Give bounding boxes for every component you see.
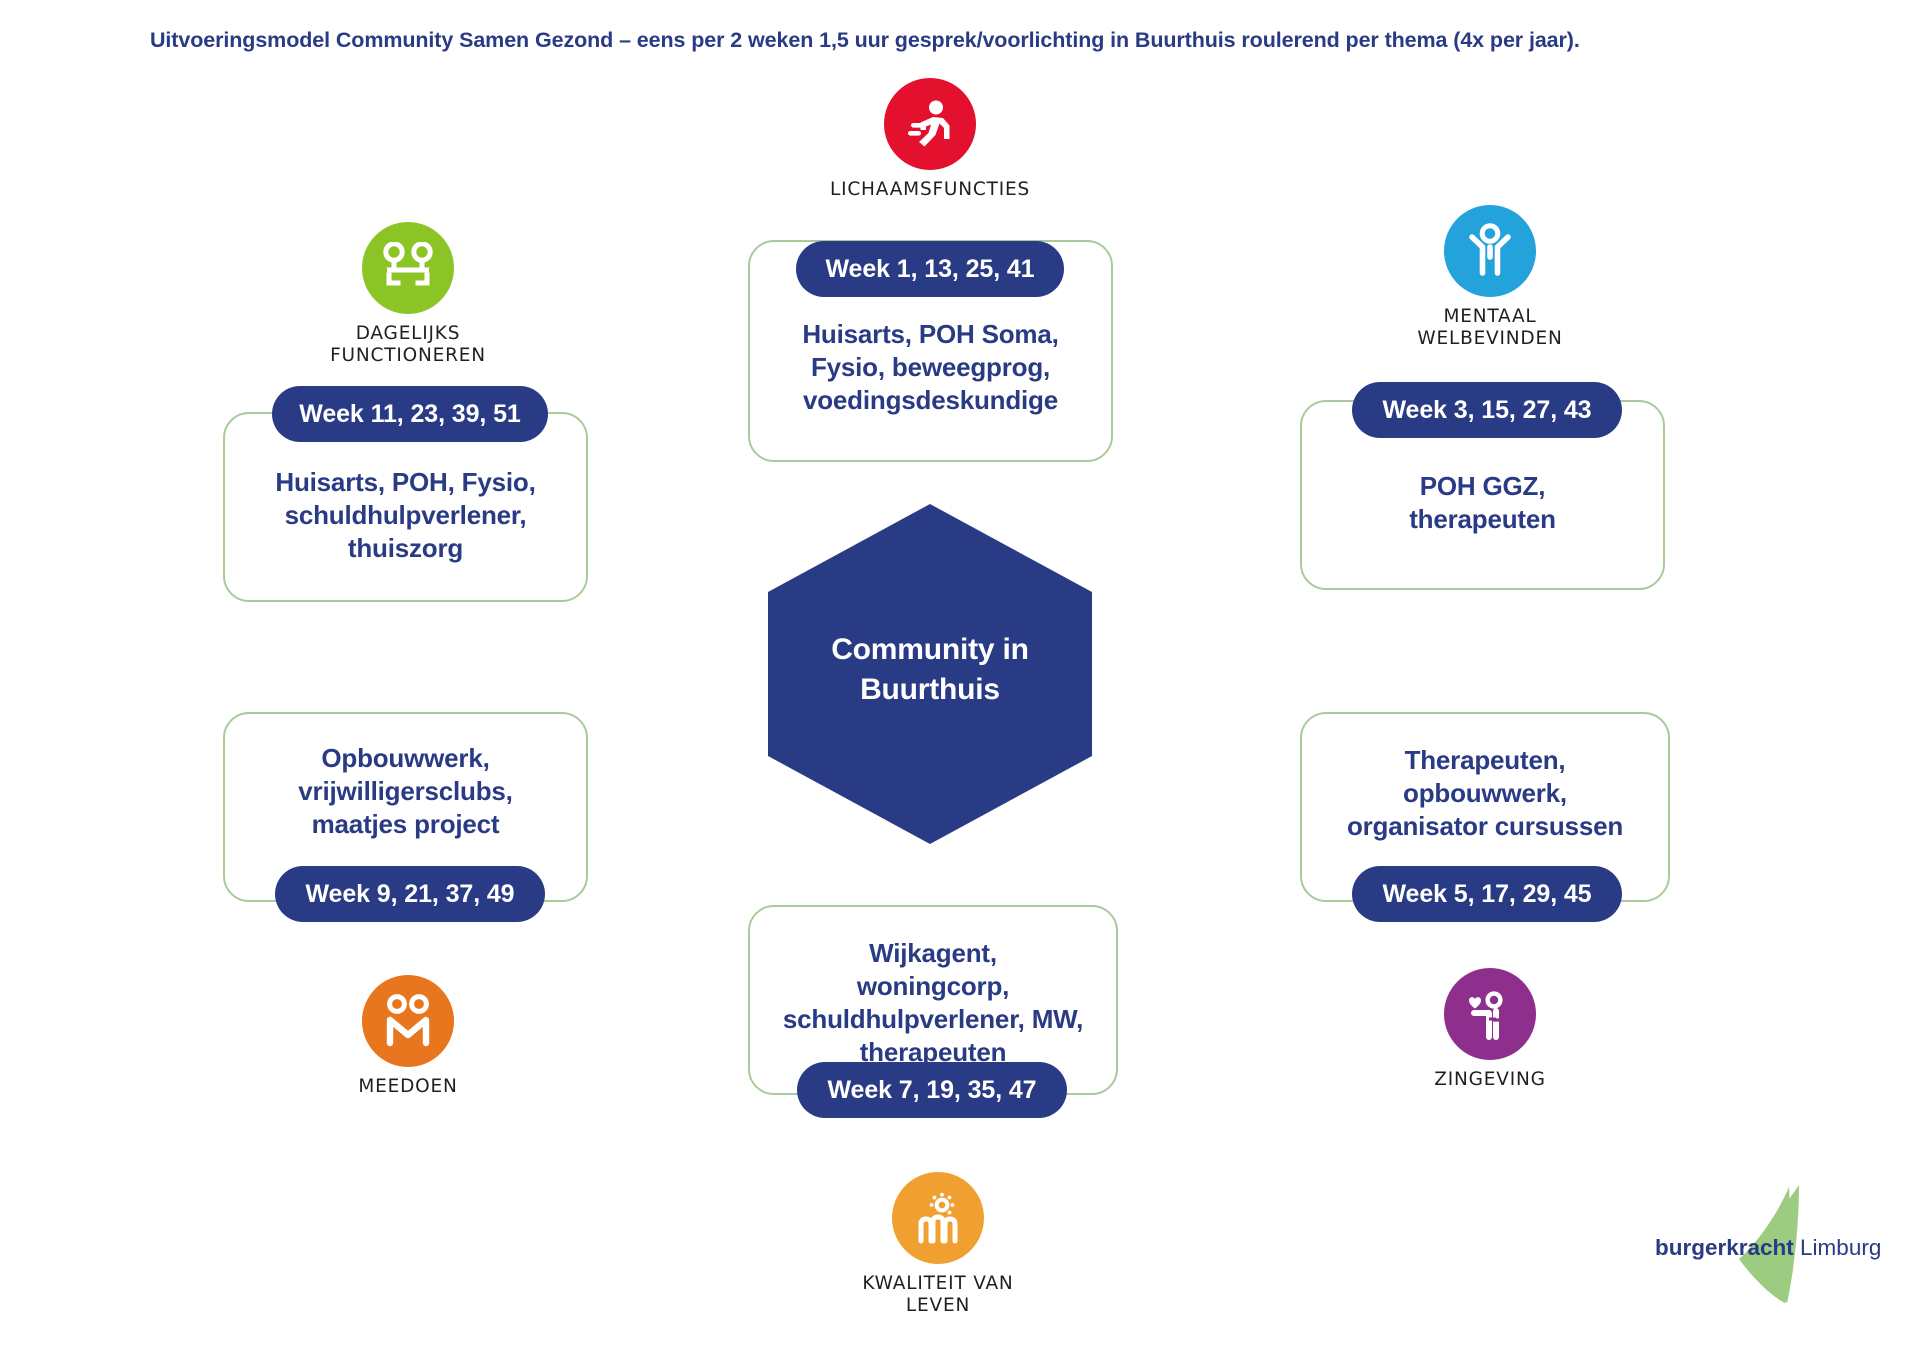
- theme-caption: DAGELIJKS FUNCTIONEREN: [278, 323, 538, 367]
- card-body: Huisarts, POH Soma, Fysio, beweegprog, v…: [750, 318, 1111, 417]
- card-body-line2: woningcorp,: [762, 970, 1104, 1003]
- theme-caption: KWALITEIT VAN LEVEN: [808, 1273, 1068, 1317]
- week-pill-mentaal-welbevinden[interactable]: Week 3, 15, 27, 43: [1352, 382, 1622, 438]
- card-body-line1: Huisarts, POH Soma,: [762, 318, 1099, 351]
- theme-caption: MEEDOEN: [278, 1076, 538, 1098]
- theme-caption-line1: KWALITEIT VAN: [808, 1273, 1068, 1295]
- theme-caption: ZINGEVING: [1360, 1069, 1620, 1091]
- card-body-line2: Fysio, beweegprog,: [762, 351, 1099, 384]
- theme-meedoen: MEEDOEN: [278, 975, 538, 1098]
- card-body-line1: Wijkagent,: [762, 937, 1104, 970]
- card-body-line1: Huisarts, POH, Fysio,: [237, 466, 574, 499]
- theme-zingeving: ZINGEVING: [1360, 968, 1620, 1091]
- week-pill-lichaamsfuncties[interactable]: Week 1, 13, 25, 41: [796, 241, 1064, 297]
- person-with-heart-icon: [1444, 968, 1536, 1060]
- card-body-line1: Opbouwwerk,: [237, 742, 574, 775]
- theme-caption-line1: DAGELIJKS: [278, 323, 538, 345]
- theme-caption-line2: WELBEVINDEN: [1360, 328, 1620, 350]
- theme-caption-line2: FUNCTIONEREN: [278, 345, 538, 367]
- logo-name-regular: Limburg: [1794, 1235, 1882, 1260]
- card-body: Wijkagent, woningcorp, schuldhulpverlene…: [750, 937, 1116, 1069]
- theme-caption-line2: LEVEN: [808, 1295, 1068, 1317]
- theme-caption: LICHAAMSFUNCTIES: [800, 179, 1060, 201]
- card-body-line2: opbouwwerk,: [1314, 777, 1656, 810]
- logo-wordmark: burgerkracht Limburg: [1655, 1235, 1881, 1261]
- week-pill-meedoen[interactable]: Week 9, 21, 37, 49: [275, 866, 545, 922]
- page-title: Uitvoeringsmodel Community Samen Gezond …: [150, 28, 1850, 53]
- card-body-line3: voedingsdeskundige: [762, 384, 1099, 417]
- card-body-line2: schuldhulpverlener,: [237, 499, 574, 532]
- theme-caption-line1: MEEDOEN: [278, 1076, 538, 1098]
- week-pill-kwaliteit-van-leven[interactable]: Week 7, 19, 35, 47: [797, 1062, 1067, 1118]
- theme-dagelijks-functioneren: DAGELIJKS FUNCTIONEREN: [278, 222, 538, 367]
- card-body: Huisarts, POH, Fysio, schuldhulpverlener…: [225, 466, 586, 565]
- card-body-line2: vrijwilligersclubs,: [237, 775, 574, 808]
- card-body-line3: schuldhulpverlener, MW,: [762, 1003, 1104, 1036]
- arms-raised-person-icon: [1444, 205, 1536, 297]
- theme-caption-line1: LICHAAMSFUNCTIES: [830, 179, 1030, 200]
- two-people-m-icon: [362, 975, 454, 1067]
- card-body-line1: Therapeuten,: [1314, 744, 1656, 777]
- card-body: Opbouwwerk, vrijwilligersclubs, maatjes …: [225, 742, 586, 841]
- theme-lichaamsfuncties: LICHAAMSFUNCTIES: [800, 78, 1060, 201]
- card-body-line3: maatjes project: [237, 808, 574, 841]
- logo-name-bold: burgerkracht: [1655, 1235, 1794, 1260]
- card-body-line3: organisator cursussen: [1314, 810, 1656, 843]
- theme-caption-line1: MENTAAL: [1360, 306, 1620, 328]
- card-body-line2: therapeuten: [1314, 503, 1651, 536]
- running-person-icon: [884, 78, 976, 170]
- theme-kwaliteit-van-leven: KWALITEIT VAN LEVEN: [808, 1172, 1068, 1317]
- person-at-table-icon: [362, 222, 454, 314]
- theme-caption-line1: ZINGEVING: [1360, 1069, 1620, 1091]
- card-body-line1: POH GGZ,: [1314, 470, 1651, 503]
- burgerkracht-limburg-logo: burgerkracht Limburg: [1655, 1185, 1885, 1305]
- center-hexagon: Community in Buurthuis: [768, 504, 1092, 844]
- card-body-line3: thuiszorg: [237, 532, 574, 565]
- card-body: POH GGZ, therapeuten: [1302, 470, 1663, 536]
- card-body: Therapeuten, opbouwwerk, organisator cur…: [1302, 744, 1668, 843]
- week-pill-dagelijks-functioneren[interactable]: Week 11, 23, 39, 51: [272, 386, 548, 442]
- week-pill-zingeving[interactable]: Week 5, 17, 29, 45: [1352, 866, 1622, 922]
- sun-and-people-icon: [892, 1172, 984, 1264]
- theme-caption: MENTAAL WELBEVINDEN: [1360, 306, 1620, 350]
- theme-mentaal-welbevinden: MENTAAL WELBEVINDEN: [1360, 205, 1620, 350]
